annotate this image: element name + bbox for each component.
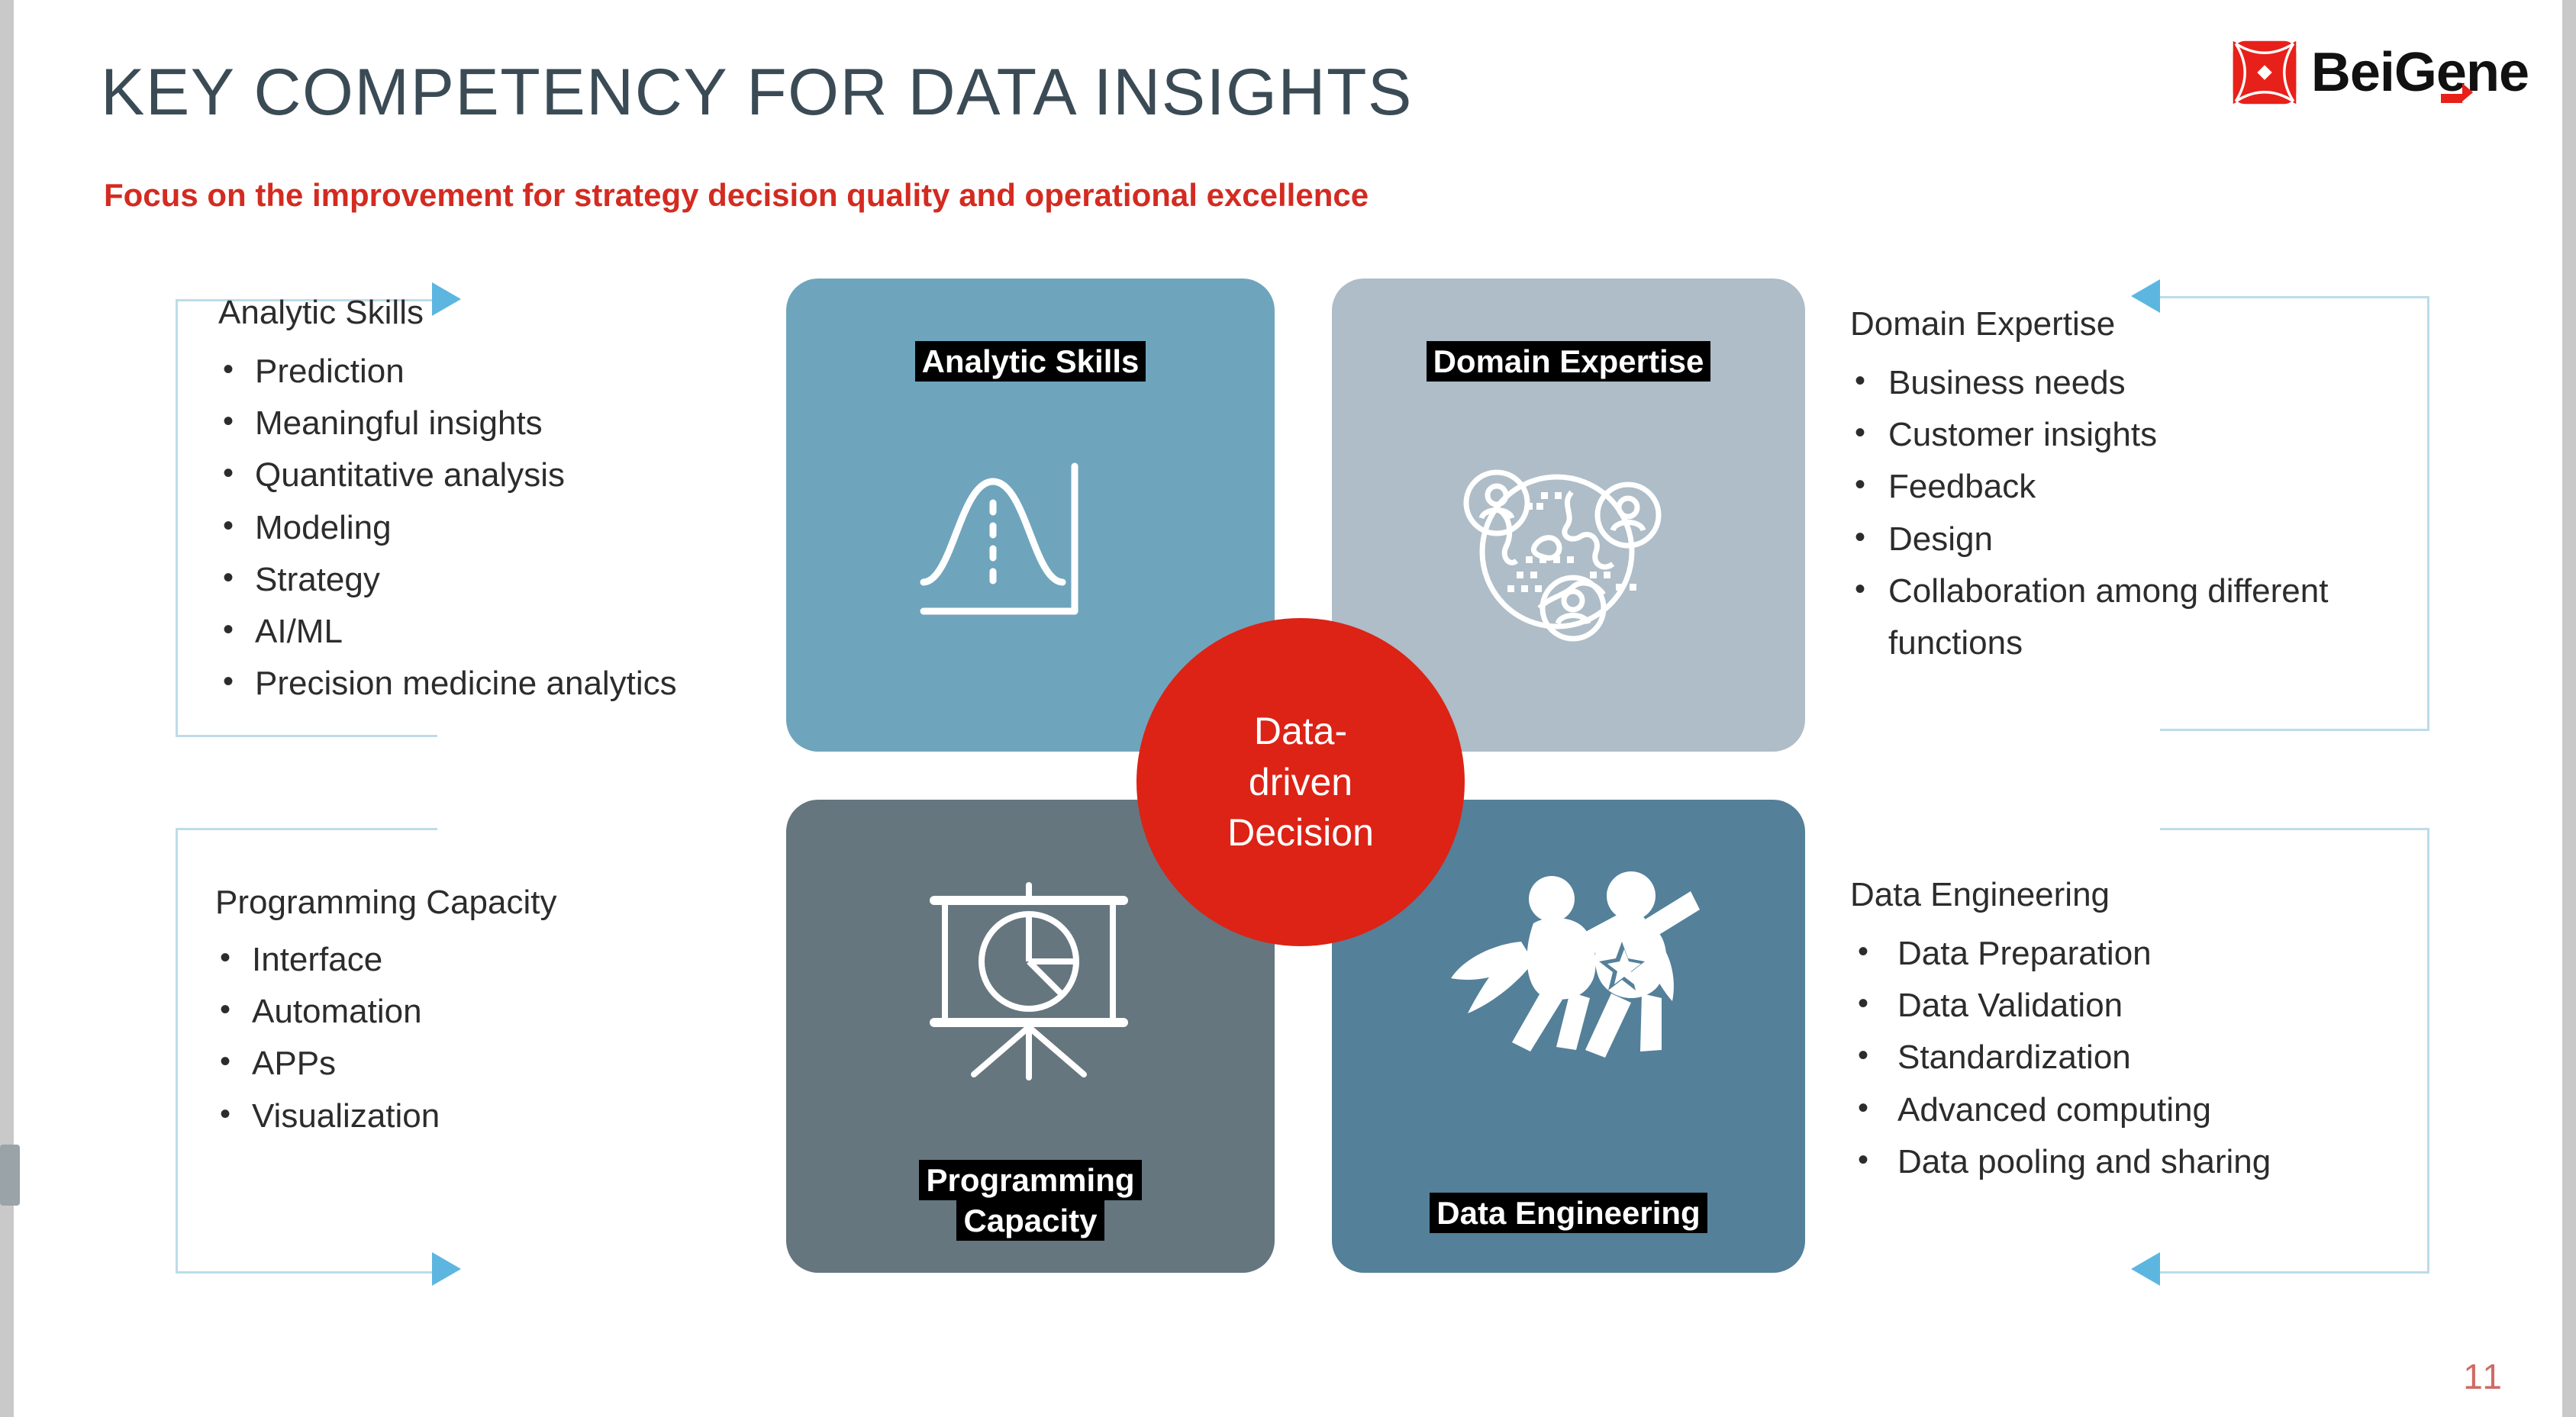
list-item: Precision medicine analytics bbox=[218, 658, 829, 710]
list-item: Advanced computing bbox=[1850, 1084, 2445, 1136]
quadrant-label-analytic-skills: Analytic Skills bbox=[786, 341, 1275, 382]
quadrant-label-data-engineering: Data Engineering bbox=[1332, 1193, 1805, 1233]
quadrant-label-line2: Capacity bbox=[956, 1200, 1104, 1241]
list-item: Data Preparation bbox=[1850, 928, 2445, 980]
page-subtitle: Focus on the improvement for strategy de… bbox=[104, 177, 1369, 214]
beigene-diamond-icon bbox=[2232, 40, 2297, 105]
list-item: APPs bbox=[215, 1038, 826, 1090]
panel-title-analytic-skills: Analytic Skills bbox=[218, 294, 829, 332]
panel-title-programming-capacity: Programming Capacity bbox=[215, 884, 826, 922]
list-item: Data Validation bbox=[1850, 980, 2445, 1032]
panel-domain-expertise: Domain Expertise Business needs Customer… bbox=[1850, 305, 2430, 669]
list-item: Strategy bbox=[218, 554, 829, 606]
list-item: Data pooling and sharing bbox=[1850, 1136, 2445, 1188]
panel-title-domain-expertise: Domain Expertise bbox=[1850, 305, 2430, 343]
logo-wordmark: BeiGene bbox=[2311, 45, 2529, 100]
beigene-logo: BeiGene bbox=[2232, 40, 2529, 105]
list-item: AI/ML bbox=[218, 606, 829, 658]
list-item: Design bbox=[1850, 514, 2430, 565]
page-title: KEY COMPETENCY FOR DATA INSIGHTS bbox=[101, 55, 1413, 130]
list-item: Standardization bbox=[1850, 1032, 2445, 1084]
list-item: Prediction bbox=[218, 346, 829, 398]
panel-programming-capacity: Programming Capacity Interface Automatio… bbox=[215, 884, 826, 1142]
list-item: Feedback bbox=[1850, 461, 2430, 513]
list-item: Business needs bbox=[1850, 357, 2430, 409]
connector-arrow-programming bbox=[432, 1252, 461, 1286]
panel-list-data-engineering: Data Preparation Data Validation Standar… bbox=[1850, 928, 2445, 1188]
panel-list-analytic-skills: Prediction Meaningful insights Quantitat… bbox=[218, 346, 829, 710]
quadrant-label-line1: Analytic Skills bbox=[915, 341, 1146, 382]
slide: KEY COMPETENCY FOR DATA INSIGHTS Focus o… bbox=[0, 0, 2576, 1417]
center-line-3: Decision bbox=[1227, 807, 1374, 858]
list-item: Quantitative analysis bbox=[218, 449, 829, 501]
quadrant-label-line1: Programming bbox=[919, 1160, 1141, 1200]
list-item: Interface bbox=[215, 934, 826, 986]
center-line-1: Data- bbox=[1254, 706, 1347, 757]
presentation-pie-chart-icon bbox=[914, 881, 1143, 1087]
list-item: Visualization bbox=[215, 1090, 826, 1142]
logo-arrow-icon bbox=[2439, 74, 2474, 105]
center-line-2: driven bbox=[1249, 757, 1352, 808]
page-number: 11 bbox=[2463, 1356, 2504, 1397]
list-item: Meaningful insights bbox=[218, 398, 829, 449]
quadrant-label-programming-capacity: Programming Capacity bbox=[786, 1160, 1275, 1241]
connector-arrow-dataeng bbox=[2131, 1252, 2160, 1286]
globe-network-people-icon bbox=[1446, 445, 1668, 643]
quadrant-label-line1: Domain Expertise bbox=[1427, 341, 1711, 382]
list-item: Automation bbox=[215, 986, 826, 1038]
list-item: Customer insights bbox=[1850, 409, 2430, 461]
panel-analytic-skills: Analytic Skills Prediction Meaningful in… bbox=[218, 294, 829, 710]
panel-list-programming-capacity: Interface Automation APPs Visualization bbox=[215, 934, 826, 1142]
center-data-driven-decision: Data- driven Decision bbox=[1136, 618, 1465, 946]
panel-list-domain-expertise: Business needs Customer insights Feedbac… bbox=[1850, 357, 2430, 669]
panel-title-data-engineering: Data Engineering bbox=[1850, 876, 2445, 914]
window-edge-handle[interactable] bbox=[0, 1145, 20, 1206]
window-edge-right bbox=[2562, 0, 2576, 1417]
superhero-team-icon bbox=[1448, 850, 1700, 1071]
quadrant-label-line1: Data Engineering bbox=[1430, 1193, 1707, 1233]
quadrant-label-domain-expertise: Domain Expertise bbox=[1332, 341, 1805, 382]
bell-curve-chart-icon bbox=[913, 459, 1104, 626]
list-item: Collaboration among different functions bbox=[1850, 565, 2430, 669]
panel-data-engineering: Data Engineering Data Preparation Data V… bbox=[1850, 876, 2445, 1188]
logo-wordmark-text: BeiGene bbox=[2311, 42, 2529, 103]
list-item: Modeling bbox=[218, 502, 829, 554]
